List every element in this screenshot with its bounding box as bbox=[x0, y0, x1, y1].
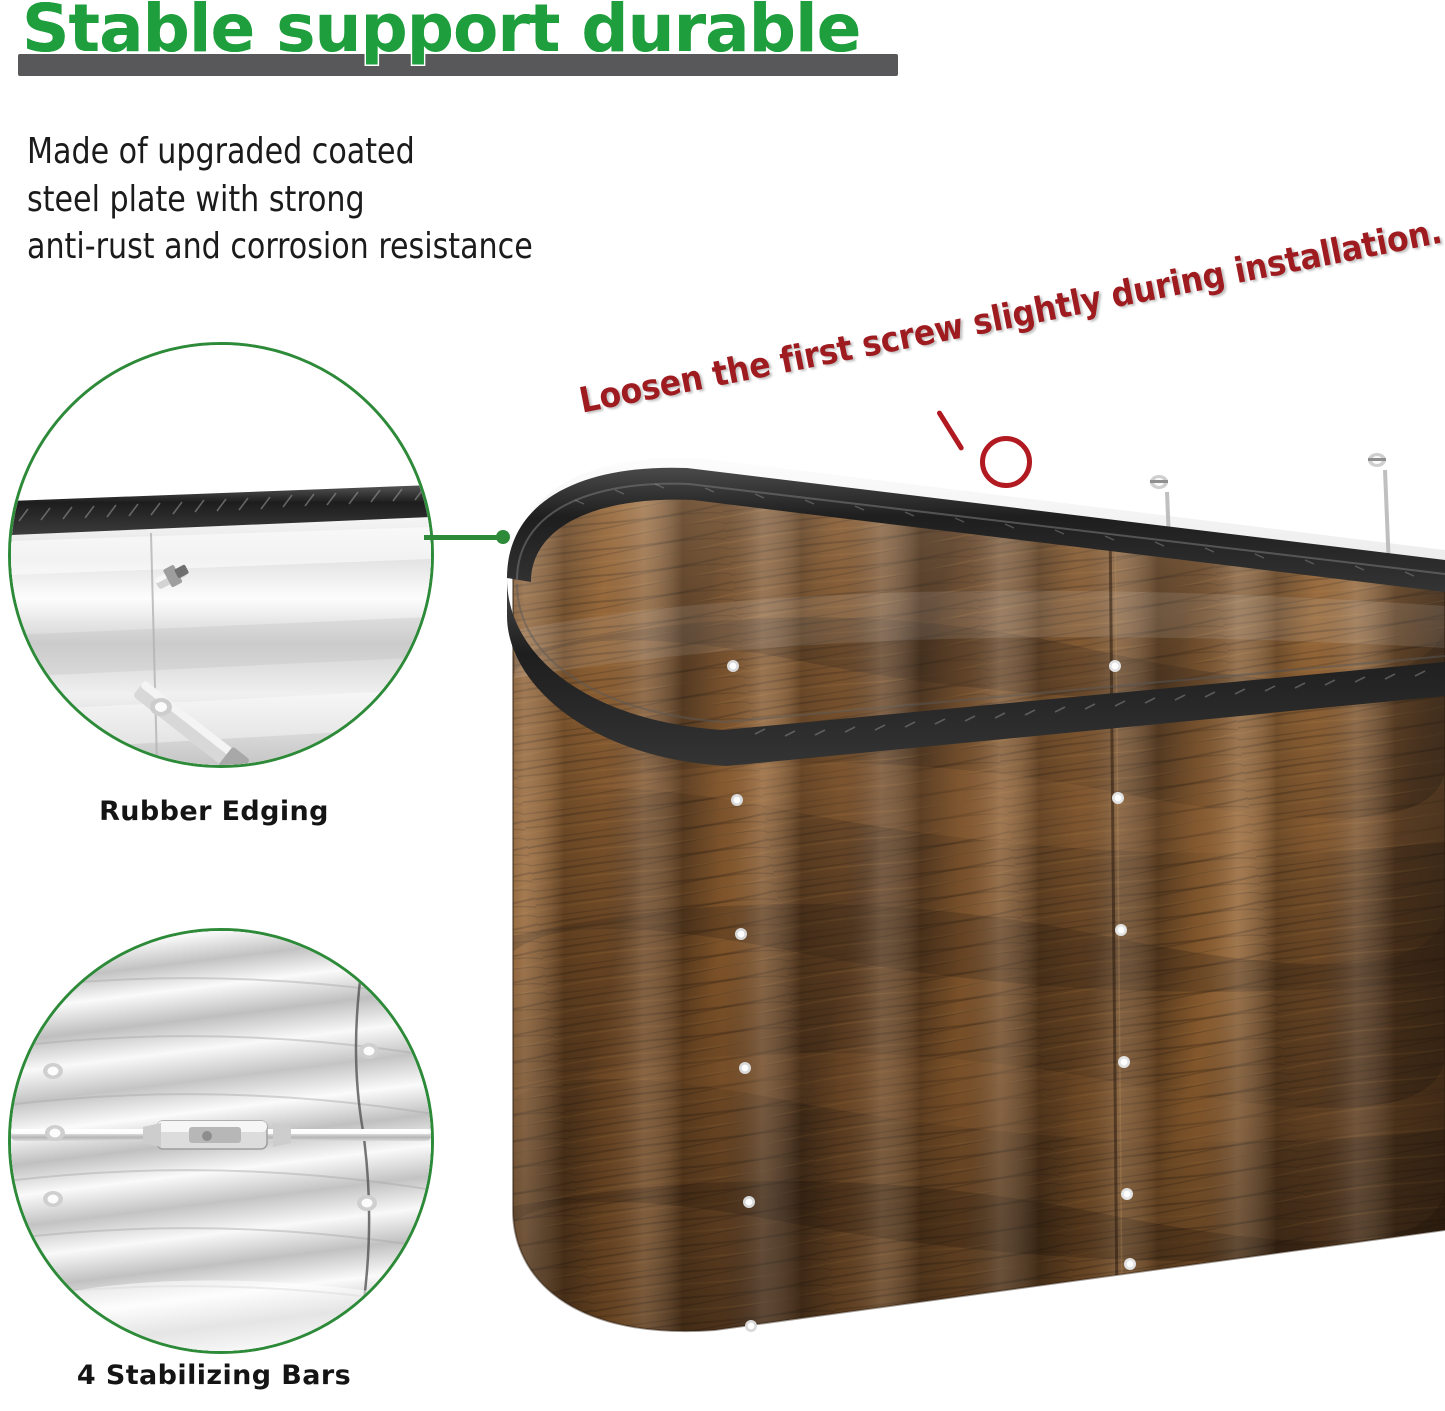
product-image bbox=[455, 330, 1445, 1406]
headline-block: Stable support durable Stable support du… bbox=[0, 0, 940, 92]
subtitle-line-2: steel plate with strong bbox=[27, 176, 734, 224]
product-body bbox=[455, 430, 1445, 1390]
rubber-edging-detail bbox=[11, 345, 431, 765]
subtitle-line-1: Made of upgraded coated bbox=[27, 128, 734, 176]
callout-label-rubber-edging: Rubber Edging bbox=[0, 796, 428, 827]
callout-rubber-edging bbox=[8, 342, 434, 768]
callout-leader-dot bbox=[496, 530, 510, 544]
product-illustration bbox=[455, 330, 1445, 1406]
subtitle-block: Made of upgraded coated steel plate with… bbox=[27, 128, 734, 271]
page-title: Stable support durable bbox=[22, 0, 860, 62]
subtitle-line-3: anti-rust and corrosion resistance bbox=[27, 223, 734, 271]
callout-leader-line bbox=[424, 535, 502, 540]
callout-stabilizing-bars bbox=[8, 928, 434, 1354]
callout-label-stabilizing-bars: 4 Stabilizing Bars bbox=[0, 1360, 428, 1391]
stabilizing-bars-detail bbox=[11, 931, 431, 1351]
screw-highlight-circle bbox=[980, 436, 1032, 488]
